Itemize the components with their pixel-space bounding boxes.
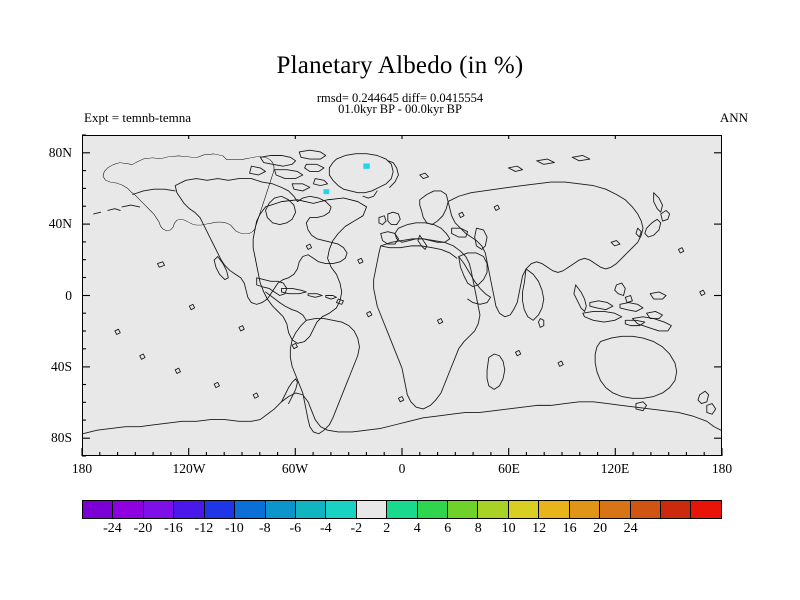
ytick-label-80n: 80N	[26, 145, 72, 161]
ytick-label-0: 0	[26, 288, 72, 304]
colorbar-swatch-18	[631, 501, 661, 518]
season-label: ANN	[0, 110, 748, 126]
colorbar-swatch-12	[448, 501, 478, 518]
world-coastline-map	[83, 136, 721, 455]
xtick-label-60w: 60W	[265, 461, 325, 477]
colorbar-swatch-2	[144, 501, 174, 518]
colorbar	[82, 500, 722, 519]
xtick-label-180w: 180	[52, 461, 112, 477]
colorbar-swatch-6	[266, 501, 296, 518]
xtick-label-120w: 120W	[159, 461, 219, 477]
page-title: Planetary Albedo (in %)	[0, 52, 800, 80]
xtick-label-0: 0	[372, 461, 432, 477]
xtick-label-180e: 180	[692, 461, 752, 477]
colorbar-tick-24: 24	[606, 521, 656, 537]
colorbar-swatch-19	[661, 501, 691, 518]
xtick-label-120e: 120E	[585, 461, 645, 477]
colorbar-swatch-0	[83, 501, 113, 518]
colorbar-swatch-1	[113, 501, 143, 518]
colorbar-swatch-9	[357, 501, 387, 518]
colorbar-swatch-16	[570, 501, 600, 518]
colorbar-swatch-10	[387, 501, 417, 518]
colorbar-swatch-13	[478, 501, 508, 518]
anomaly-cell-s-greenland	[323, 189, 329, 194]
colorbar-swatch-5	[235, 501, 265, 518]
xtick-label-60e: 60E	[479, 461, 539, 477]
colorbar-swatch-14	[509, 501, 539, 518]
colorbar-swatch-17	[600, 501, 630, 518]
colorbar-swatch-7	[296, 501, 326, 518]
ytick-label-40s: 40S	[26, 359, 72, 375]
colorbar-swatch-15	[539, 501, 569, 518]
colorbar-swatch-3	[174, 501, 204, 518]
map-plot-area	[82, 135, 722, 456]
ytick-label-40n: 40N	[26, 216, 72, 232]
colorbar-swatch-11	[418, 501, 448, 518]
anomaly-cell-ne-greenland	[363, 163, 369, 168]
colorbar-swatch-20	[691, 501, 720, 518]
ytick-label-80s: 80S	[26, 430, 72, 446]
colorbar-swatch-4	[205, 501, 235, 518]
colorbar-swatch-8	[326, 501, 356, 518]
